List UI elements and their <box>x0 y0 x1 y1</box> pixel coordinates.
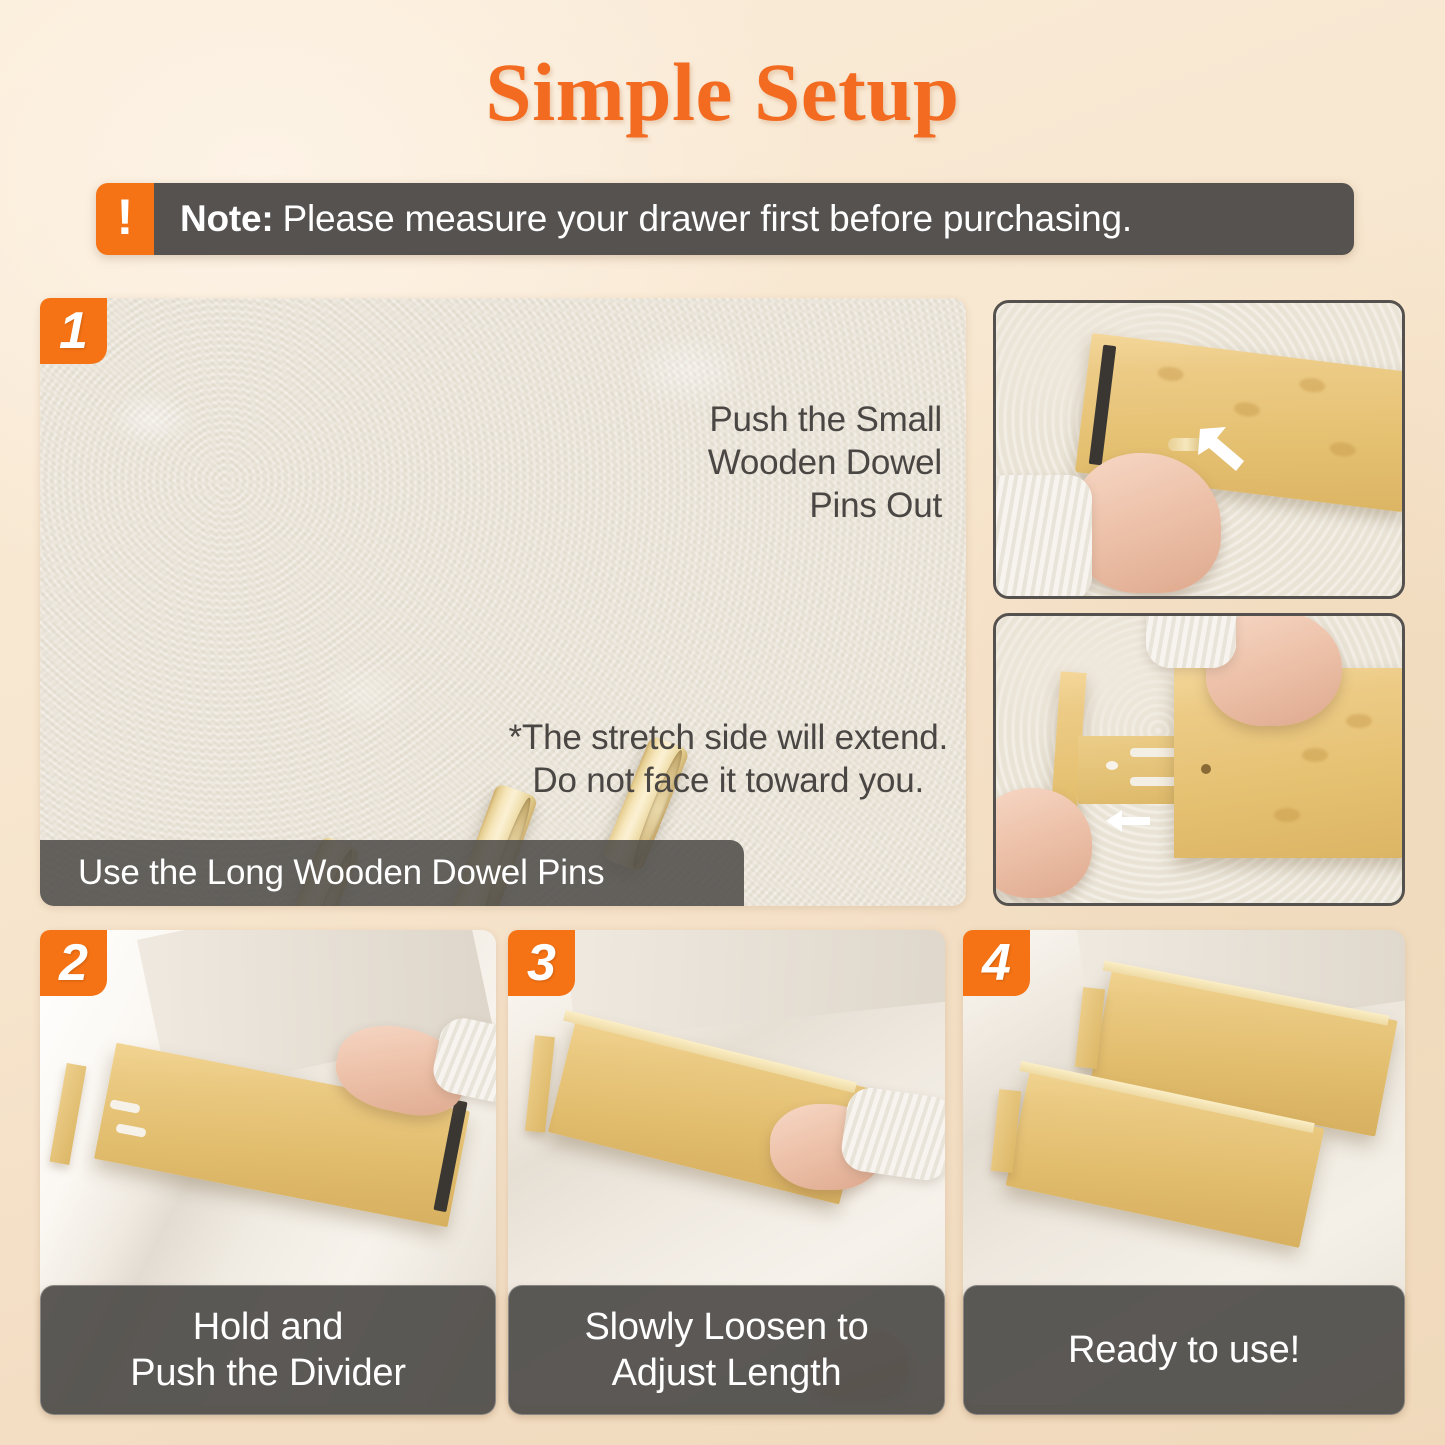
exclamation-glyph: ! <box>117 192 134 242</box>
dowel-pins-group <box>40 298 966 906</box>
warn-line-2: Do not face it toward you. <box>509 759 948 802</box>
page-title: Simple Setup <box>0 44 1445 140</box>
arrow-left-icon <box>1106 808 1150 834</box>
step-1-caption: Use the Long Wooden Dowel Pins <box>40 840 744 906</box>
note-banner: ! Note: Please measure your drawer first… <box>96 183 1354 255</box>
step-1-photo: Push the Small Wooden Dowel Pins Out *Th… <box>40 298 966 906</box>
caption-line-2: Adjust Length <box>584 1350 868 1396</box>
push-line-2: Wooden Dowel <box>708 441 942 484</box>
step-badge-3: 3 <box>508 930 575 996</box>
note-label: Note: <box>180 198 274 240</box>
sweater-sleeve <box>1146 613 1236 668</box>
push-line-1: Push the Small <box>708 398 942 441</box>
rail-slot <box>1130 777 1180 786</box>
inset-extend-divider <box>993 613 1405 906</box>
step-2-caption: Hold and Push the Divider <box>40 1285 496 1415</box>
warn-line-1: *The stretch side will extend. <box>509 716 948 759</box>
rail-hole <box>1106 761 1118 770</box>
step-3-caption: Slowly Loosen to Adjust Length <box>508 1285 945 1415</box>
push-line-3: Pins Out <box>708 484 942 527</box>
stretch-side-warning: *The stretch side will extend. Do not fa… <box>509 716 948 802</box>
board-hole <box>1201 764 1211 774</box>
sweater-sleeve <box>993 475 1092 599</box>
push-dowel-instruction: Push the Small Wooden Dowel Pins Out <box>708 398 942 527</box>
step-badge-2: 2 <box>40 930 107 996</box>
caption-line-1: Ready to use! <box>1068 1327 1300 1373</box>
inset-pull-dowel-pin <box>993 300 1405 599</box>
step-badge-1: 1 <box>40 298 107 364</box>
note-message: Please measure your drawer first before … <box>283 198 1132 240</box>
note-banner-text: Note: Please measure your drawer first b… <box>154 183 1354 255</box>
hand <box>1071 453 1221 593</box>
caption-line-2: Push the Divider <box>130 1350 406 1396</box>
rail-slot <box>1130 748 1180 757</box>
caption-line-1: Slowly Loosen to <box>584 1304 868 1350</box>
sweater-sleeve <box>839 1085 945 1183</box>
caption-line-1: Hold and <box>130 1304 406 1350</box>
arrow-up-left-icon <box>1192 421 1252 473</box>
exclamation-icon: ! <box>96 183 154 255</box>
step-badge-4: 4 <box>963 930 1030 996</box>
step-4-caption: Ready to use! <box>963 1285 1405 1415</box>
